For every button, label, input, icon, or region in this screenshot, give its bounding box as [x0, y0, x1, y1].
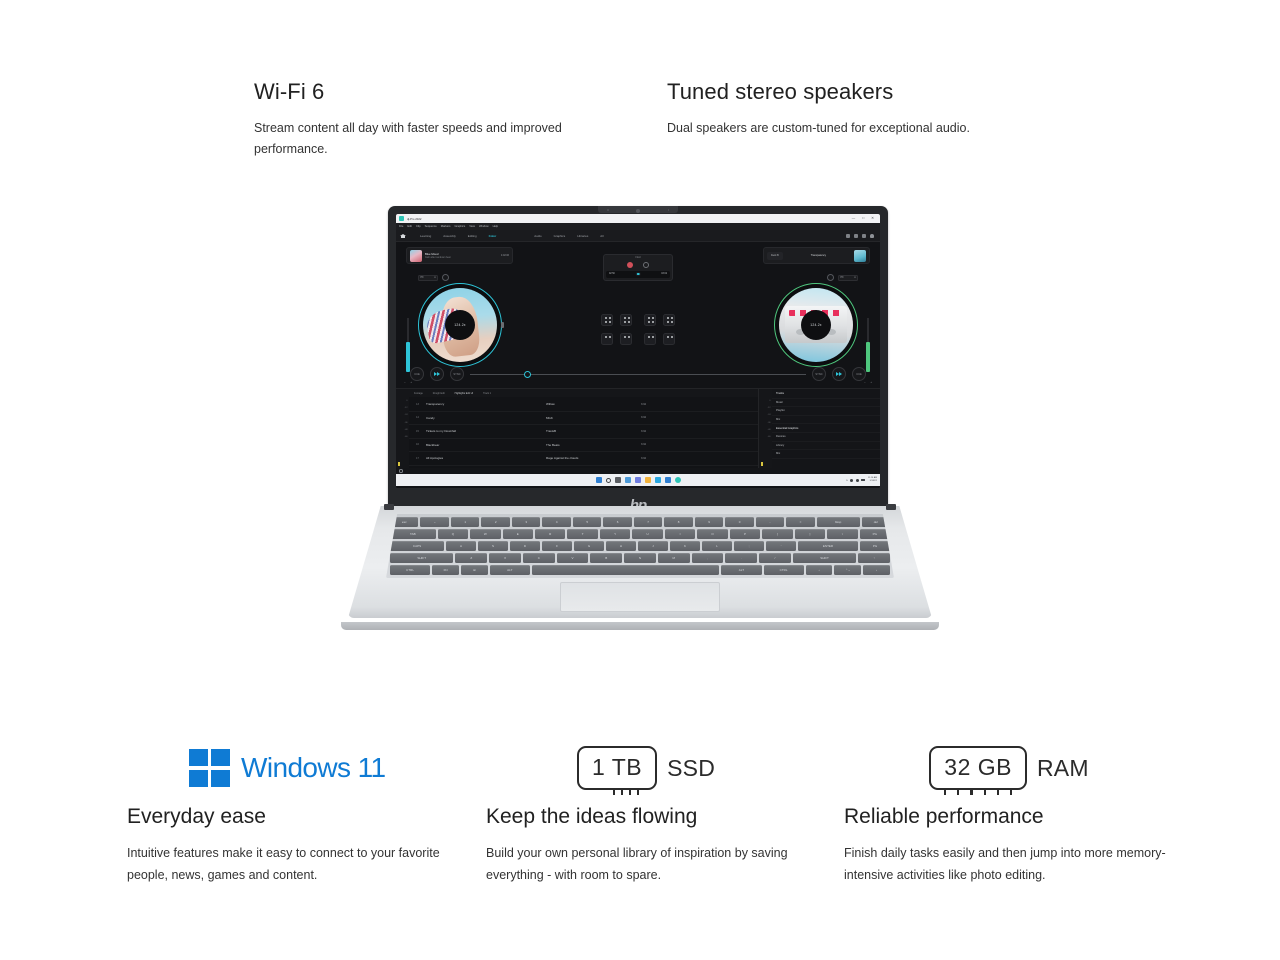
tab-learning[interactable]: Learning — [414, 234, 437, 238]
taskbar-clock[interactable]: 11:14 AM 5/18/22 — [868, 477, 877, 483]
pad-button[interactable] — [601, 314, 613, 326]
windows-square-1 — [189, 749, 208, 766]
key[interactable]: X — [489, 553, 521, 563]
feature-body: Build your own personal library of inspi… — [486, 843, 806, 887]
feature-title: Reliable performance — [844, 804, 1174, 829]
windows-logo: Windows 11 — [189, 749, 386, 787]
tab-graphics[interactable]: Graphics — [548, 234, 572, 238]
track-title: Blue Mood — [425, 252, 498, 256]
key[interactable]: 6 — [603, 517, 631, 527]
left-deck-select[interactable]: PX ▾ — [418, 275, 438, 281]
menu-item-file[interactable]: File — [399, 225, 403, 228]
deck-chip: Deck B — [767, 252, 783, 260]
key-backspace[interactable]: bksp — [817, 517, 860, 527]
key-shift-right[interactable]: SHIFT — [793, 553, 856, 563]
mixer-label: Fluid — [606, 257, 670, 259]
keyboard-row-4: SHIFT Z X C V B N M , . / SHIFT ↑ — [390, 553, 890, 563]
tab-rough-edit[interactable]: Rough Edit — [428, 392, 450, 395]
chip-pins — [931, 788, 1025, 795]
key[interactable]: W — [470, 529, 500, 539]
feature-title: Keep the ideas flowing — [486, 804, 806, 829]
minimize-button[interactable]: — — [852, 217, 855, 220]
left-deck: PX ▾ — [418, 274, 502, 367]
feature-title: Everyday ease — [127, 804, 447, 829]
key-alt-left[interactable]: ALT — [490, 565, 530, 575]
row-title: Candy — [426, 416, 546, 420]
crossfader-knob[interactable] — [636, 272, 641, 277]
play-button-right[interactable] — [832, 367, 846, 381]
play-button-left[interactable] — [430, 367, 444, 381]
row-number: 15 — [409, 430, 426, 433]
laptop-base: esc ~ 1 2 3 4 5 6 7 8 9 0 - = bk — [330, 506, 950, 626]
key[interactable]: 0 — [725, 517, 753, 527]
key[interactable]: - — [756, 517, 784, 527]
ssd-capacity-chip: 1 TB — [577, 746, 657, 791]
key[interactable]: . — [725, 553, 757, 563]
left-level-meter: 0-12-24-36-48-60 — [396, 389, 409, 468]
key[interactable]: 1 — [451, 517, 479, 527]
pad-button[interactable] — [644, 333, 656, 345]
key[interactable]: 5 — [573, 517, 601, 527]
grid-icon[interactable] — [846, 234, 850, 238]
keyboard-row-2: TAB Q W E R T Y U I O P [ ] \ PG — [390, 529, 890, 539]
sidebar-item-playlist[interactable]: Playlist — [772, 407, 880, 416]
search-icon[interactable] — [606, 478, 611, 483]
key[interactable]: L — [702, 541, 732, 551]
key[interactable]: P — [730, 529, 760, 539]
chat-icon[interactable] — [635, 477, 641, 483]
row-time: 3:34 — [641, 443, 671, 446]
ram-capacity-chip: 32 GB — [929, 746, 1027, 791]
webcam-notch — [598, 206, 678, 213]
row-title: All Apologies — [426, 456, 546, 460]
row-time: 3:34 — [641, 430, 671, 433]
tab-all[interactable]: All — [594, 234, 609, 238]
edge-icon[interactable] — [655, 477, 661, 483]
menu-item-edit[interactable]: Edit — [407, 225, 412, 228]
row-artist: MGK — [546, 416, 641, 420]
explorer-icon[interactable] — [645, 477, 651, 483]
key[interactable]: F — [542, 541, 572, 551]
table-row[interactable]: 16 Blackbear The Beats 3:34 — [409, 439, 758, 453]
feature-body: Finish daily tasks easily and then jump … — [844, 843, 1174, 887]
meter-bar — [398, 462, 400, 466]
mic-dot-right — [668, 209, 670, 211]
tab-editing[interactable]: Editing — [462, 234, 483, 238]
track-list-tabs: Footage Rough Edit Highlights Edit v3 Tr… — [409, 389, 758, 397]
key[interactable]: I — [665, 529, 695, 539]
row-number: 13 — [409, 403, 426, 406]
dj-deck-area: Blue Mood Calm after sundown beat 4:02:0… — [396, 242, 880, 388]
right-deck-select-value: PX — [841, 277, 844, 279]
feature-ram: 32 GB RAM Reliable performance Finish da… — [844, 740, 1174, 887]
feature-windows11: Windows 11 Everyday ease Intuitive featu… — [127, 740, 447, 887]
sidebar-item-music[interactable]: Music — [772, 399, 880, 408]
chevron-down-icon: ▾ — [854, 276, 855, 279]
key[interactable]: Y — [600, 529, 630, 539]
key[interactable]: ; — [734, 541, 764, 551]
left-jog-hub: 124.2x — [445, 310, 475, 340]
windows-squares — [189, 749, 231, 787]
pad-button[interactable] — [663, 333, 675, 345]
row-number: 14 — [409, 416, 426, 419]
windows-square-2 — [211, 749, 230, 766]
meter-scale: 0-12-24-36-48-60 — [759, 398, 772, 441]
right-deck-controls: PX ▾ — [774, 274, 858, 281]
row-time: 3:34 — [641, 457, 671, 460]
ssd-chip-icon: 1 TB SSD — [486, 740, 806, 796]
feature-body: Intuitive features make it easy to conne… — [127, 843, 447, 887]
app-icon[interactable] — [675, 477, 681, 483]
transport-bar: CUE SYNC SYNC CUE — [396, 364, 880, 384]
row-title: Blackbear — [426, 443, 546, 447]
left-bpm-value: 124.2x — [454, 323, 465, 327]
feature-wifi6: Wi-Fi 6 Stream content all day with fast… — [254, 78, 614, 160]
tab-footage[interactable]: Footage — [409, 392, 428, 395]
key-space[interactable] — [532, 565, 719, 575]
tab-highlights-edit[interactable]: Highlights Edit v3 — [450, 392, 478, 395]
pad-button[interactable] — [663, 314, 675, 326]
keyboard-row-5: CTRL FN ⊞ ALT ALT CTRL ‹ ⌃⌄ › — [390, 565, 890, 575]
right-track-card[interactable]: Deck B Transparency — [763, 247, 870, 264]
touchpad[interactable] — [560, 582, 720, 612]
tab-audio[interactable]: Audio — [528, 234, 547, 238]
lock-icon[interactable] — [854, 234, 858, 238]
pad-button[interactable] — [601, 333, 613, 345]
track-text: Blue Mood Calm after sundown beat — [425, 252, 498, 259]
key[interactable]: V — [557, 553, 589, 563]
row-artist: Willow — [546, 402, 641, 406]
row-artist: The Beats — [546, 443, 641, 447]
key[interactable]: D — [510, 541, 540, 551]
feature-title: Tuned stereo speakers — [667, 78, 1067, 106]
app-logo-icon — [399, 216, 404, 221]
right-bpm-value: 124.2x — [810, 323, 821, 327]
right-track-name: Transparency — [811, 254, 826, 258]
menu-item-clip[interactable]: Clip — [416, 225, 421, 228]
laptop-screen-bezel: dj-Pro 2022 — □ ✕ File Edit Clip Sequenc… — [396, 214, 880, 488]
left-jog-wheel[interactable]: 124.2x — [418, 283, 502, 367]
timeline-scrubber[interactable] — [470, 367, 806, 381]
chevron-up-icon[interactable]: ∧ — [846, 479, 848, 482]
menu-item-window[interactable]: Window — [479, 225, 489, 228]
scrubber-track — [470, 374, 806, 375]
keyboard-rows: esc ~ 1 2 3 4 5 6 7 8 9 0 - = bk — [386, 514, 894, 578]
key[interactable]: \ — [827, 529, 857, 539]
sidebar-item-mix[interactable]: Mix — [772, 416, 880, 425]
pad-button[interactable] — [644, 314, 656, 326]
center-mixer-panel: Fluid 02:50 03:02 — [603, 254, 673, 281]
base-front-edge — [341, 622, 939, 630]
key-arrow-left[interactable]: ‹ — [806, 565, 833, 575]
keyboard-row-3: CAPS A S D F G H J K L ; ' ENTER PG — [390, 541, 890, 551]
key[interactable]: U — [632, 529, 662, 539]
key[interactable]: J — [638, 541, 668, 551]
key[interactable]: [ — [762, 529, 792, 539]
cloud-icon[interactable] — [870, 234, 874, 238]
app-menubar: File Edit Clip Sequence Markers Graphics… — [396, 223, 880, 230]
windows-square-4 — [211, 770, 230, 787]
key[interactable]: S — [478, 541, 508, 551]
right-pad-grid — [644, 314, 675, 345]
windows-taskbar: ∧ 11:14 AM 5/18/22 — [396, 474, 880, 486]
album-art-thumbnail — [854, 250, 866, 262]
key[interactable]: E — [503, 529, 533, 539]
right-jog-hub: 124.2x — [801, 310, 831, 340]
meter-bar — [761, 462, 763, 466]
key[interactable]: G — [574, 541, 604, 551]
ram-label: RAM — [1037, 755, 1089, 782]
table-row[interactable]: 14 Candy MGK 3:34 — [409, 412, 758, 426]
feature-stereo-speakers: Tuned stereo speakers Dual speakers are … — [667, 78, 1067, 139]
tab-libraries[interactable]: Libraries — [571, 234, 594, 238]
close-button[interactable]: ✕ — [871, 217, 874, 220]
cue-button-left[interactable]: CUE — [410, 367, 424, 381]
key[interactable]: B — [590, 553, 622, 563]
volume-icon[interactable] — [856, 479, 859, 482]
time-right: 03:02 — [661, 273, 667, 275]
sidebar-item-mix-2[interactable]: Mix — [772, 450, 880, 459]
store-icon[interactable] — [665, 477, 671, 483]
track-subtitle: Calm after sundown beat — [425, 257, 498, 259]
gear-icon[interactable] — [399, 469, 403, 473]
key-shift-left[interactable]: SHIFT — [390, 553, 453, 563]
key-alt-right[interactable]: ALT — [721, 565, 761, 575]
feature-ssd: 1 TB SSD Keep the ideas flowing Build yo… — [486, 740, 806, 887]
library-area: 0-12-24-36-48-60 Footage Rough Edit High… — [396, 388, 880, 468]
tab-assembly[interactable]: Assembly — [437, 234, 462, 238]
menu-item-sequence[interactable]: Sequence — [425, 225, 437, 228]
scrubber-knob[interactable] — [524, 371, 531, 378]
network-icon[interactable] — [850, 479, 853, 482]
key[interactable]: 8 — [664, 517, 692, 527]
menu-item-markers[interactable]: Markers — [441, 225, 451, 228]
key[interactable]: 3 — [512, 517, 540, 527]
cue-button-right[interactable]: CUE — [852, 367, 866, 381]
system-tray: ∧ 11:14 AM 5/18/22 — [846, 477, 877, 483]
key[interactable]: R — [535, 529, 565, 539]
key-ctrl-right[interactable]: CTRL — [764, 565, 804, 575]
feature-body: Dual speakers are custom-tuned for excep… — [667, 118, 1067, 139]
key-enter[interactable]: ENTER — [798, 541, 858, 551]
mic-dot-left — [607, 209, 609, 211]
app-title: dj-Pro 2022 — [407, 217, 421, 221]
tracks-sidebar-items: Tracks Music Playlist Mix Essential Grap… — [772, 389, 880, 468]
row-artist: Rage Against the clouds — [546, 456, 641, 460]
row-number: 16 — [409, 443, 426, 446]
screen-content: dj-Pro 2022 — □ ✕ File Edit Clip Sequenc… — [396, 214, 880, 488]
ssd-chip-wrap: 1 TB SSD — [577, 746, 715, 791]
record-button[interactable] — [627, 262, 633, 268]
row-time: 3:34 — [641, 403, 671, 406]
home-icon[interactable] — [400, 233, 406, 239]
battery-icon[interactable] — [861, 479, 865, 482]
key[interactable]: / — [759, 553, 791, 563]
widgets-icon[interactable] — [615, 477, 621, 483]
keyboard[interactable]: esc ~ 1 2 3 4 5 6 7 8 9 0 - = bk — [386, 514, 894, 578]
meter-scale: 0-12-24-36-48-60 — [396, 398, 409, 441]
row-number: 17 — [409, 457, 426, 460]
key[interactable]: = — [786, 517, 814, 527]
workspace-navbar: Learning Assembly Editing Color Audio Gr… — [396, 230, 880, 242]
table-row[interactable]: 15 Tickets to my Downfall TravisB 3:34 — [409, 425, 758, 439]
feature-title: Wi-Fi 6 — [254, 78, 614, 106]
windows-wordmark: Windows 11 — [241, 752, 385, 784]
key-arrow-right[interactable]: › — [863, 565, 890, 575]
row-title: Transparency — [426, 402, 546, 406]
left-jog-notch — [501, 322, 504, 328]
help-icon[interactable] — [862, 234, 866, 238]
row-title: Tickets to my Downfall — [426, 429, 546, 433]
sidebar-item-tracks[interactable]: Tracks — [772, 390, 880, 399]
key-capslock[interactable]: CAPS — [390, 541, 444, 551]
webcam-icon — [636, 209, 640, 213]
app-titlebar: dj-Pro 2022 — □ ✕ — [396, 214, 880, 223]
key[interactable]: 4 — [542, 517, 570, 527]
row-artist: TravisB — [546, 429, 641, 433]
right-level-meter: 0-12-24-36-48-60 — [759, 389, 772, 468]
key-windows[interactable]: ⊞ — [461, 565, 488, 575]
left-deck-knob[interactable] — [442, 274, 449, 281]
key-tab[interactable]: TAB — [390, 529, 436, 539]
key-ctrl-left[interactable]: CTRL — [390, 565, 430, 575]
navbar-right-icons — [846, 234, 876, 238]
sync-button-right[interactable]: SYNC — [812, 367, 826, 381]
key[interactable]: 9 — [695, 517, 723, 527]
track-list-rows: 13 Transparency Willow 3:34 14 Candy MGK — [409, 397, 758, 467]
right-deck: PX ▾ — [774, 274, 858, 367]
key[interactable]: 7 — [634, 517, 662, 527]
ssd-capacity-value: 1 TB — [592, 754, 642, 780]
key[interactable]: 2 — [481, 517, 509, 527]
album-art-thumbnail — [410, 250, 422, 262]
right-deck-knob[interactable] — [827, 274, 834, 281]
key[interactable]: ] — [795, 529, 825, 539]
chevron-down-icon: ▾ — [434, 276, 435, 279]
mixer-buttons — [606, 262, 670, 268]
right-deck-select[interactable]: PX ▾ — [838, 275, 858, 281]
key[interactable]: O — [697, 529, 727, 539]
laptop-lid: hp dj-Pro 2022 — □ ✕ — [388, 206, 888, 516]
table-row[interactable]: 17 All Apologies Rage Against the clouds… — [409, 452, 758, 466]
key[interactable]: Z — [455, 553, 487, 563]
left-deck-controls: PX ▾ — [418, 274, 502, 281]
laptop-product-image: hp dj-Pro 2022 — □ ✕ — [330, 200, 950, 640]
ram-chip-wrap: 32 GB RAM — [929, 746, 1088, 791]
start-icon[interactable] — [596, 477, 602, 483]
ram-chip-icon: 32 GB RAM — [844, 740, 1174, 796]
tracks-sidebar: 0-12-24-36-48-60 Tracks Music Playlist M… — [758, 389, 880, 468]
track-list: Footage Rough Edit Highlights Edit v3 Tr… — [409, 389, 758, 468]
left-pad-grid — [601, 314, 632, 345]
left-deck-select-value: PX — [421, 277, 424, 279]
time-left: 02:50 — [609, 273, 615, 275]
key[interactable]: N — [624, 553, 656, 563]
key-fn[interactable]: FN — [432, 565, 459, 575]
keyboard-row-1: esc ~ 1 2 3 4 5 6 7 8 9 0 - = bk — [390, 517, 890, 527]
key[interactable]: ' — [766, 541, 796, 551]
key-pgdn[interactable]: PG — [860, 541, 890, 551]
maximize-button[interactable]: □ — [862, 217, 864, 220]
key-arrow-up[interactable]: ↑ — [858, 553, 890, 563]
sidebar-item-essential-graphics[interactable]: Essential Graphics — [772, 424, 880, 433]
left-track-card[interactable]: Blue Mood Calm after sundown beat 4:02:0… — [406, 247, 513, 264]
key[interactable]: , — [692, 553, 724, 563]
right-jog-wheel[interactable]: 124.2x — [774, 283, 858, 367]
window-controls: — □ ✕ — [852, 217, 877, 220]
menu-item-help[interactable]: Help — [493, 225, 499, 228]
windows-square-3 — [189, 770, 208, 787]
track-duration: 4:02:06 — [501, 254, 509, 257]
key[interactable]: C — [523, 553, 555, 563]
ssd-label: SSD — [667, 755, 715, 782]
table-row[interactable]: 13 Transparency Willow 3:34 — [409, 398, 758, 412]
crossfader[interactable]: 02:50 03:02 — [606, 271, 670, 278]
row-time: 3:34 — [641, 416, 671, 419]
key[interactable]: K — [670, 541, 700, 551]
feature-body: Stream content all day with faster speed… — [254, 118, 614, 161]
clock-date: 5/18/22 — [870, 480, 877, 482]
files-icon[interactable] — [625, 477, 631, 483]
key[interactable]: H — [606, 541, 636, 551]
menu-item-graphics[interactable]: Graphics — [454, 225, 465, 228]
sidebar-item-library[interactable]: Library — [772, 442, 880, 451]
sync-button-left[interactable]: SYNC — [450, 367, 464, 381]
key-arrow-updown[interactable]: ⌃⌄ — [834, 565, 861, 575]
product-feature-page: Wi-Fi 6 Stream content all day with fast… — [0, 0, 1280, 960]
key[interactable]: Q — [438, 529, 468, 539]
menu-item-view[interactable]: View — [469, 225, 475, 228]
tab-track-1[interactable]: Track 1 — [478, 392, 496, 395]
ram-capacity-value: 32 GB — [944, 754, 1012, 780]
pad-button[interactable] — [620, 314, 632, 326]
hinge-left — [384, 504, 394, 510]
key[interactable]: T — [567, 529, 597, 539]
sidebar-item-devices[interactable]: Devices — [772, 433, 880, 442]
key[interactable]: M — [658, 553, 690, 563]
key[interactable]: A — [446, 541, 476, 551]
clock-time: 11:14 AM — [868, 477, 877, 479]
pad-button[interactable] — [620, 333, 632, 345]
loop-button[interactable] — [643, 262, 649, 268]
hinge-right — [886, 504, 896, 510]
windows-logo-icon: Windows 11 — [127, 740, 447, 796]
chip-pins — [588, 788, 664, 795]
key[interactable]: ~ — [420, 517, 448, 527]
tab-color[interactable]: Color — [483, 234, 503, 238]
key-pgup[interactable]: PG — [860, 529, 890, 539]
